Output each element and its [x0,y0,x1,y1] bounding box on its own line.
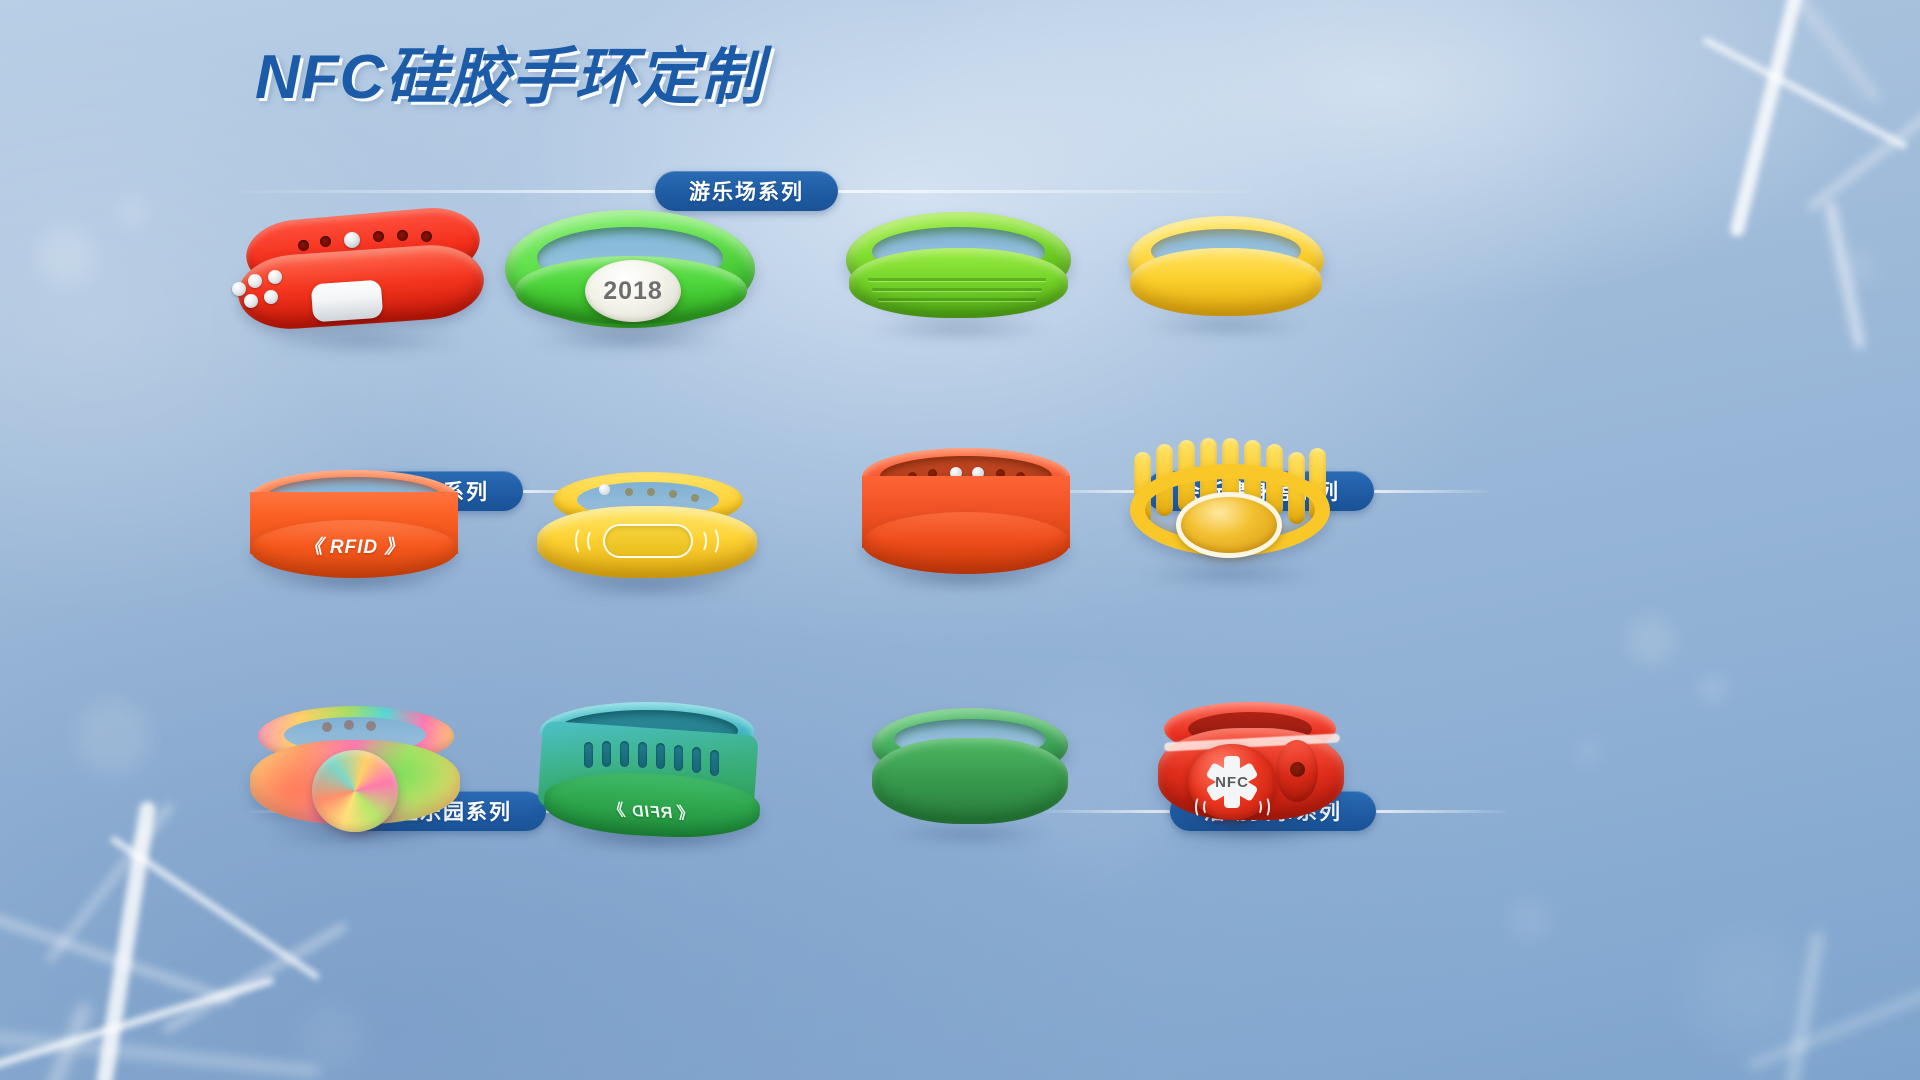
strap-hole [366,721,376,731]
wristband-groove [872,288,1042,291]
product-red-adjustable-strap-wristband[interactable] [238,206,488,341]
bokeh-light [300,1006,364,1070]
wristband-ring-front [849,248,1068,318]
product-shadow [888,824,1053,844]
section-badge-amusement-park[interactable]: 游乐场系列 [655,171,838,211]
medical-nfc-badge: NFC [1188,744,1276,820]
product-shadow [1166,824,1336,846]
wristband-slot [710,750,719,776]
strap-hole [625,488,633,496]
strap-lug [248,274,262,288]
strap-lug [268,270,282,284]
bokeh-light [38,228,94,284]
product-red-medical-nfc-slap-wristband[interactable]: NFC [1158,702,1344,838]
section-rule-right [1374,490,1489,493]
wristband-ring-front [862,512,1070,574]
wristband-disc [312,750,398,832]
page-title: NFC硅胶手环定制 [255,26,763,116]
strap-hole [421,231,432,242]
wristband-printed-text: 2018 [603,277,663,306]
strap-lug [264,290,278,304]
strap-lug [232,282,246,296]
product-teal-green-slotted-wristband[interactable]: 《 RFID 》 [540,702,760,842]
bokeh-light [1690,930,1810,1050]
wristband-disc: 2018 [585,260,681,322]
wristband-groove [868,278,1046,281]
product-yellow-plain-wristband[interactable] [1128,216,1324,328]
strap-lug [244,294,258,308]
strap-stud [599,484,610,495]
section-rule-right [1376,810,1506,813]
section-header-amusement-park: 游乐场系列 [240,171,1320,211]
nfc-wave-icon [1254,799,1262,815]
wristband-ring-front [872,738,1068,824]
wristband-slot [692,747,701,773]
product-yellow-nfc-panel-wristband[interactable] [537,472,757,587]
section-rule-right [838,190,1253,193]
wristband-slot [620,741,629,767]
nfc-wave-icon [587,529,600,553]
wristband-slot [674,745,683,771]
wristband-groove [878,298,1036,301]
product-shadow [1144,316,1309,336]
bokeh-light [1700,676,1726,702]
wristband-printed-text: NFC [1188,774,1276,791]
strap-hole [344,720,354,730]
nfc-wave-icon [694,529,707,553]
wristband-ring-front [1130,248,1322,316]
bokeh-light [118,196,148,226]
wristband-printed-text: 《 RFID 》 [250,532,458,559]
product-orange-perforated-strap-wristband[interactable] [862,448,1070,580]
product-shadow [1143,564,1318,586]
product-green-oval-disc-wristband[interactable]: 2018 [505,210,755,338]
product-dark-green-plain-wristband[interactable] [872,708,1068,830]
strap-hole [669,490,677,498]
bokeh-light [1628,618,1674,664]
strap-hole [298,240,309,251]
strap-hole [647,488,655,496]
bokeh-light [1578,742,1598,762]
product-tiedye-rainbow-disc-wristband[interactable] [250,706,460,836]
product-orange-rfid-wide-wristband[interactable]: 《 RFID 》 [250,470,458,578]
nfc-panel [603,524,693,558]
strap-hole [691,494,699,502]
product-lime-grooved-wristband[interactable] [846,212,1071,330]
product-shadow [530,328,730,352]
wristband-slot [584,742,593,768]
product-shadow [866,318,1051,340]
wristband-slot [638,742,647,768]
bokeh-light [1510,900,1550,940]
section-rule-left [240,190,655,193]
wristband-slot [602,741,611,767]
product-shadow [263,328,463,354]
strap-hole [1290,762,1305,777]
bokeh-light [76,700,150,774]
strap-stud [344,232,360,248]
wristband-clasp [311,280,383,323]
strap-hole [322,722,332,732]
strap-hole [320,236,331,247]
strap-lug-group [230,268,288,324]
nfc-wave-icon [1203,799,1211,815]
product-yellow-wavy-amber-face-wristband[interactable] [1130,442,1330,582]
product-shadow [552,576,742,598]
strap-hole [373,231,384,242]
strap-hole [397,230,408,241]
wristband-slot [656,743,665,769]
wristband-face-panel [1176,492,1282,558]
